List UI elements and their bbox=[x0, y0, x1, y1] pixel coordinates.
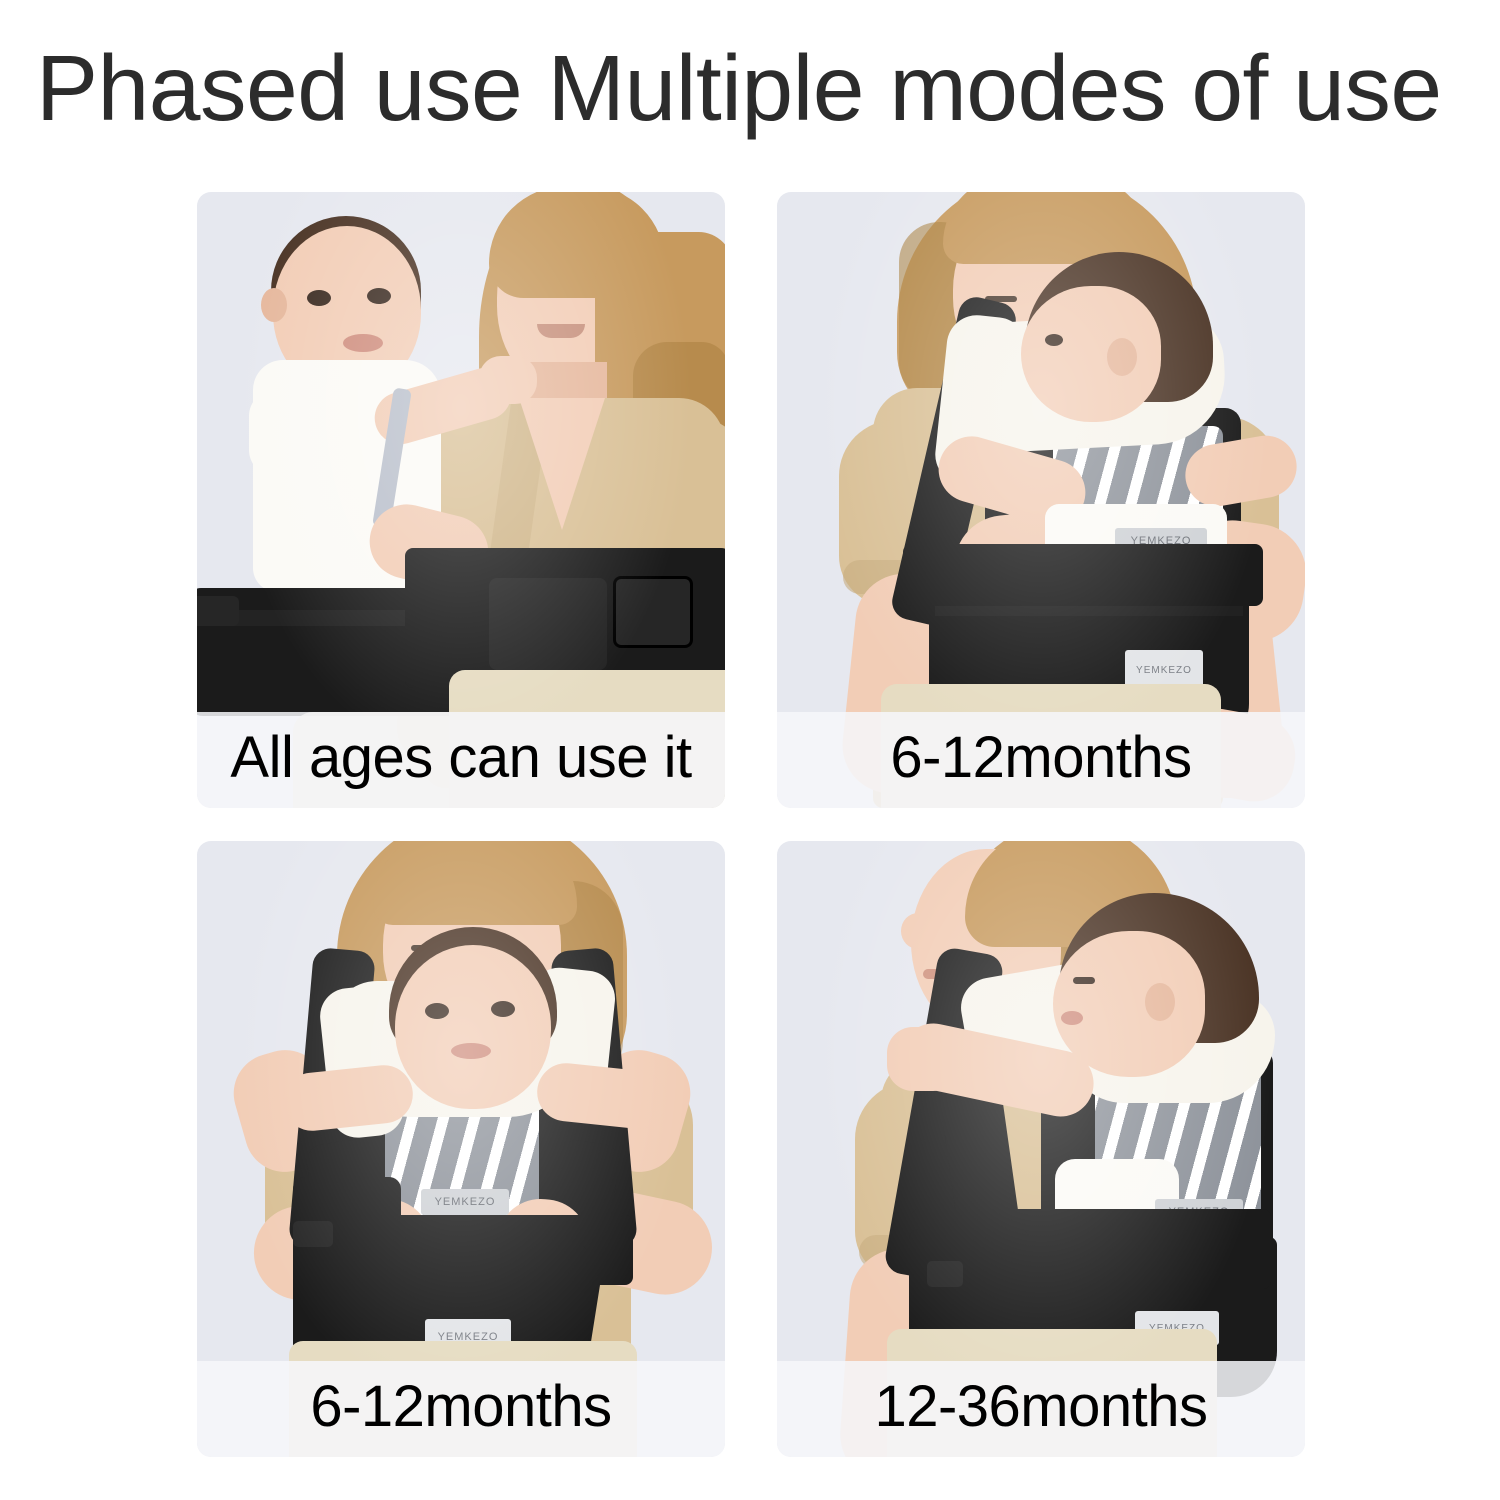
panel-12-36-months[interactable]: YEMKEZO YEMKEZO 12-36months bbox=[777, 841, 1305, 1457]
panel-caption: All ages can use it bbox=[230, 729, 691, 787]
panel-all-ages[interactable]: All ages can use it bbox=[197, 192, 725, 808]
mode-panel-grid: All ages can use it bbox=[197, 192, 1305, 1457]
caption-strip: 6-12months bbox=[777, 712, 1305, 808]
panel-caption: 6-12months bbox=[890, 729, 1191, 787]
panel-6-12-months-front-inward[interactable]: YEMKEZO YEMKEZO 6-12months bbox=[197, 841, 725, 1457]
caption-strip: 12-36months bbox=[777, 1361, 1305, 1457]
panel-6-12-months-front-outward[interactable]: YEMKEZO YEMKEZO 6-12months bbox=[777, 192, 1305, 808]
brand-label: YEMKEZO bbox=[421, 1189, 509, 1215]
caption-strip: All ages can use it bbox=[197, 712, 725, 808]
caption-strip: 6-12months bbox=[197, 1361, 725, 1457]
panel-caption: 12-36months bbox=[874, 1378, 1207, 1436]
panel-caption: 6-12months bbox=[310, 1378, 611, 1436]
page-title: Phased use Multiple modes of use bbox=[36, 40, 1476, 138]
